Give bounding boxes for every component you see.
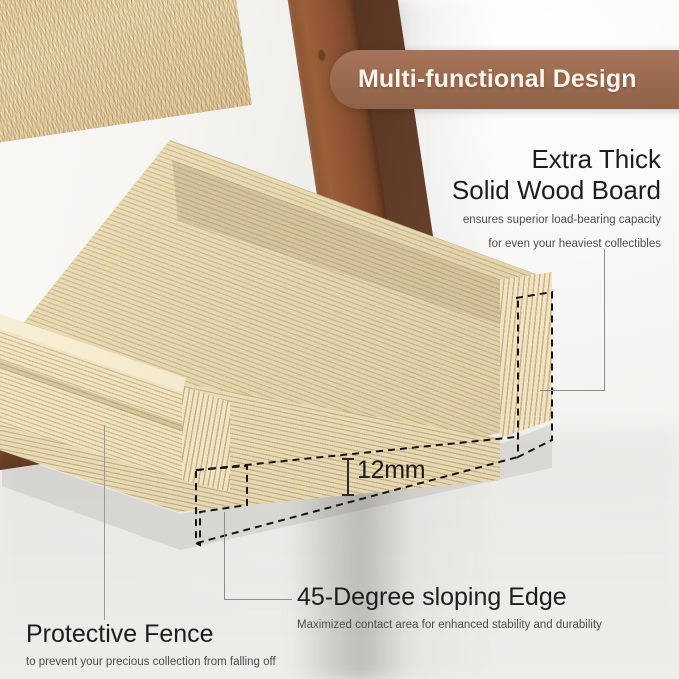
leader-line-sloping-edge-horizontal [224, 599, 292, 600]
leader-line-protective-fence [104, 425, 105, 620]
annotation-title-line1: Protective Fence [26, 620, 276, 650]
headline-banner-label: Multi-functional Design [358, 65, 637, 94]
annotation-protective-fence: Protective Fence to prevent your preciou… [26, 620, 276, 670]
product-infographic: 12mm Multi-functional Design Extra Thick… [0, 0, 679, 679]
wood-knot-icon [318, 49, 327, 61]
leader-line-sloping-edge-vertical [224, 512, 225, 600]
headline-banner: Multi-functional Design [330, 50, 679, 109]
measure-cap-bottom [342, 494, 354, 496]
annotation-subtitle-line2: for even your heaviest collectibles [452, 236, 661, 252]
measure-tick-line [347, 458, 349, 496]
annotation-title-line2: Solid Wood Board [452, 175, 661, 206]
annotation-title-line1: 45-Degree sloping Edge [297, 583, 602, 613]
thickness-measurement-label: 12mm [357, 456, 425, 485]
leader-line-extra-thick-horizontal [540, 390, 605, 391]
annotation-45-degree-sloping-edge: 45-Degree sloping Edge Maximized contact… [297, 583, 602, 633]
annotation-subtitle-line1: Maximized contact area for enhanced stab… [297, 617, 602, 633]
annotation-subtitle-line1: to prevent your precious collection from… [26, 654, 276, 670]
annotation-extra-thick-solid-wood-board: Extra Thick Solid Wood Board ensures sup… [452, 144, 661, 252]
annotation-title-line1: Extra Thick [452, 144, 661, 175]
leader-line-extra-thick-vertical [604, 249, 605, 391]
annotation-subtitle-line1: ensures superior load-bearing capacity [452, 212, 661, 228]
